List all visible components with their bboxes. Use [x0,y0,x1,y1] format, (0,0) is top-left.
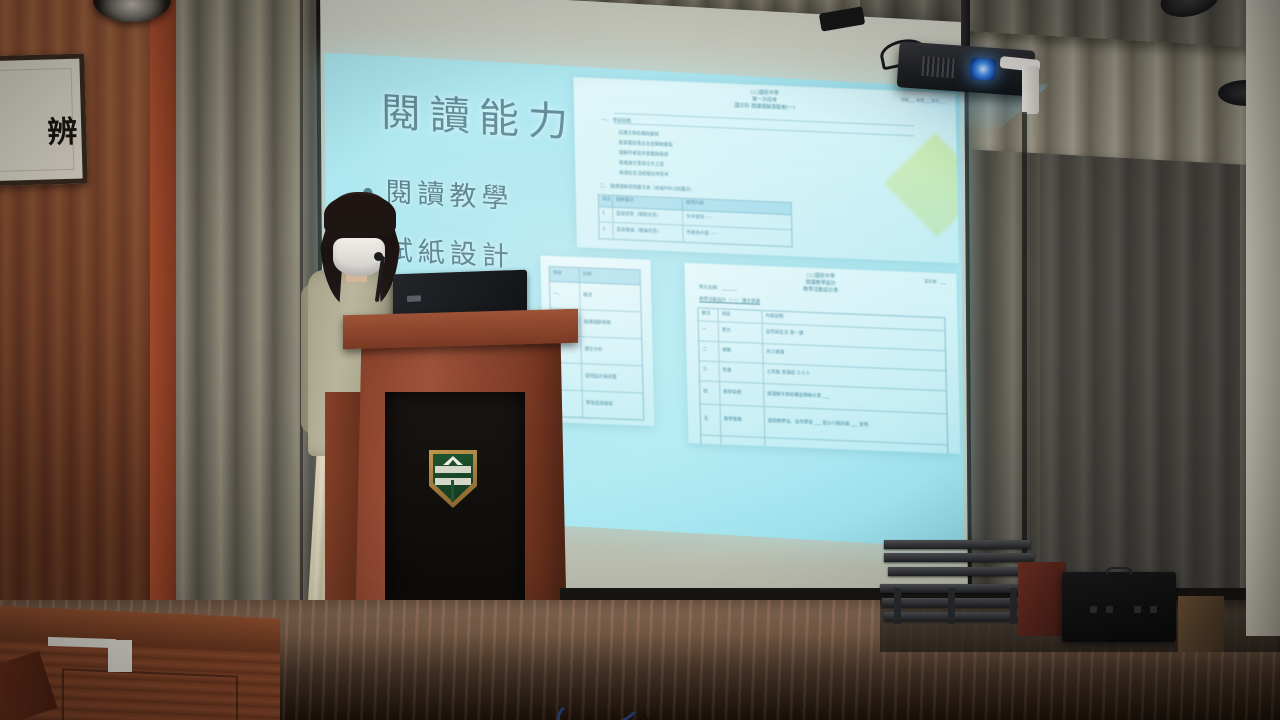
doc-a-td: 1 [599,207,613,222]
doc-a-table-caption: 二、 閱讀理解提問層次表（依據PIRLS四層次） [600,184,695,194]
doc-c-table-row: 一、 概述 [550,282,641,312]
doc-c-th: 說明 [580,268,640,284]
doc-b-td: 五 [701,404,722,435]
white-box-on-ledge [108,640,132,672]
doc-a-section-label: 一、 學習目標： [602,118,635,126]
doc-a-header-line: 國文科 閱讀理解測驗卷(一) [734,103,795,113]
doc-a-th: 項次 [599,195,613,207]
slide-title: 閱讀能力 [381,80,577,149]
doc-b-td: 一 [699,321,719,341]
doc-c-table-row: 四、 提問設計與評量 [552,363,643,393]
riser-bar [882,598,1030,607]
laptop-logo-icon [407,295,421,301]
case-handle-icon [1106,567,1132,575]
riser-bar [884,553,1034,562]
doc-a-bullet: 能連結生活經驗延伸思考 [619,171,669,180]
doc-a-bullet: 理解作者寫作意圖與情感 [619,151,669,160]
projector-mount-drop [1022,66,1039,114]
slide-document-a: ○○國民中學 第一次段考 國文科 閱讀理解測驗卷(一) 班級___ 座號___ … [573,77,958,263]
doc-c-td: 學習成效檢核 [583,391,644,419]
school-crest-icon [429,450,477,508]
wooden-crate [1178,596,1224,652]
podium-top-surface [343,309,578,350]
doc-b-td: 二 [699,341,719,361]
doc-a-table: 項次 理解層次 提問內容 1 直接提取（擷取訊息） 文中提到⋯⋯ 2 直接推論（… [598,194,793,247]
doc-b-td: 四 [700,381,720,404]
doc-b-header-line: 教學活動設計表 [803,287,838,295]
doc-c-td: 閱讀理解策略 [581,310,642,338]
doc-c-table-row: 五、 學習成效檢核 [553,390,644,419]
riser-leg [894,588,901,624]
doc-b-table: 節次 項目 內容說明 一 單元 自然與生活 第一課 二 節數 共三節課 [697,307,948,454]
doc-b-td: 六 [701,435,722,453]
doc-c-td: 課文分析 [581,337,642,365]
doc-b-section-title: 教學活動設計（一）：課文導讀 [699,297,760,306]
case-latch-icon [1134,606,1141,613]
red-stage-block [1018,562,1066,636]
doc-a-bullet: 認識文章結構與脈絡 [618,131,659,139]
doc-a-bullet: 能掌握段落主旨並歸納重點 [619,141,673,150]
doc-b-th: 節次 [698,308,718,321]
doc-b-corner-note: 設計者：___ [924,278,946,285]
case-latch-icon [1106,606,1113,613]
doc-b-td: 單元 [719,322,763,343]
crest-divider [451,480,454,502]
crest-band [435,466,471,473]
framed-wall-sign: 辨 [0,53,88,186]
black-equipment-case [1062,572,1176,642]
doc-a-td: 直接推論（推論訊息） [613,223,683,242]
doc-b-td: 節數 [719,342,763,363]
doc-c-td: 概述 [580,283,641,311]
microphone-icon [374,252,383,261]
doc-b-th: 項目 [718,309,762,323]
doc-c-td: 提問設計與評量 [582,364,643,392]
doc-b-td: 對象 [720,362,764,383]
doc-b-td: 教學策略 [721,405,766,437]
riser-bar [888,567,1030,576]
photo-scene: 辨 閱讀能力 閱讀教學 試紙設計 ○○國民中學 第一次段考 國文科 閱讀理解測驗… [0,0,1280,720]
doc-b-td: 三 [700,361,720,381]
doc-a-td: 直接提取（擷取訊息） [613,208,683,225]
doc-a-bullet: 能推論文意與言外之意 [619,161,664,169]
doc-a-header: ○○國民中學 第一次段考 國文科 閱讀理解測驗卷(一) [734,89,795,113]
doc-a-td: 2 [599,222,613,239]
doc-c-td: 一、 [550,282,581,309]
doc-b-header: ○○國民中學 閱讀教學設計 教學活動設計表 [803,273,838,295]
doc-c-th: 項目 [550,267,580,282]
doc-b-td: 評量方式 [721,436,766,454]
riser-bar [884,540,1030,549]
slide-accent-shape [884,133,959,238]
doc-a-td: 作者為什麼⋯⋯ [683,226,791,247]
presenter-hair-fringe [324,194,396,236]
case-latch-icon [1090,606,1097,613]
wood-ledge-panel [62,668,238,720]
doc-b-field-label: 單元名稱：_______ [699,285,737,293]
side-wall-door [1246,0,1280,636]
projector-lens-icon [969,57,996,81]
podium-front-panel [385,392,525,624]
case-latch-icon [1150,606,1157,613]
slide-document-b: ○○國民中學 閱讀教學設計 教學活動設計表 設計者：___ 單元名稱：_____… [684,263,960,454]
riser-leg [948,588,955,624]
wall-cable [1022,112,1027,582]
projector-vent [921,56,956,78]
riser-leg [1010,588,1017,624]
wall-sign-character: 辨 [47,107,76,152]
stacked-stage-risers [884,540,1030,624]
doc-b-td: 教學目標 [720,382,764,406]
doc-c-table: 項目 說明 一、 概述 二、 閱讀理解策略 三、 課文分析 [549,266,645,421]
